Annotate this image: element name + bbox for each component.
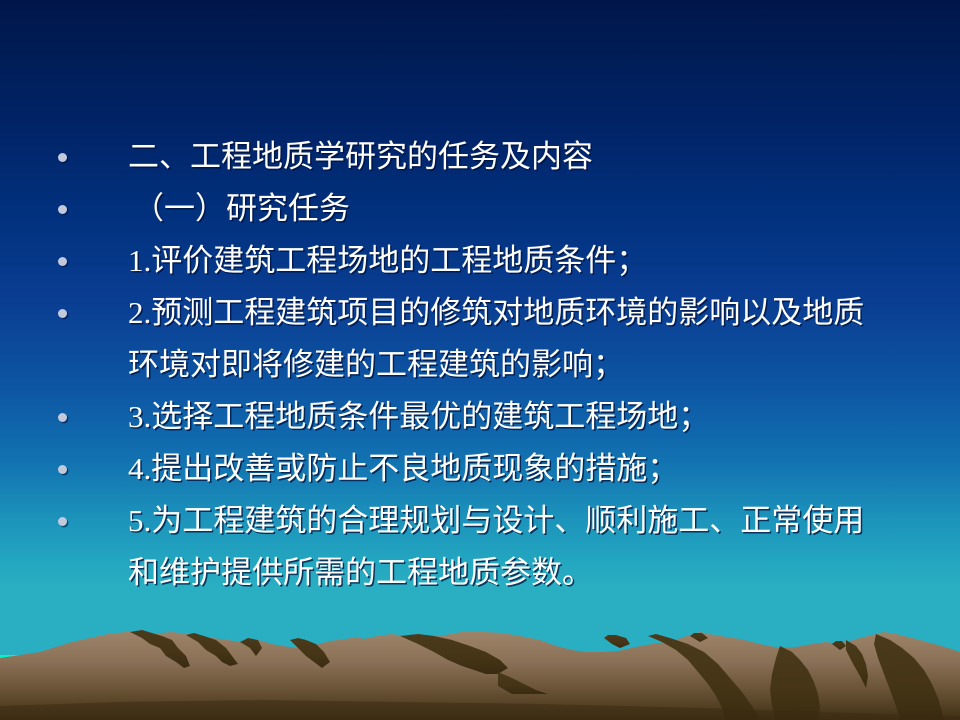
bullet-text-2: （一）研究任务	[0, 183, 390, 235]
presentation-slide: 二、工程地质学研究的任务及内容 （一）研究任务 1.评价建筑工程场地的工程地质条…	[0, 0, 960, 720]
bullet-text-3: 1.评价建筑工程场地的工程地质条件；	[0, 235, 687, 287]
bullet-text-7: 5.为工程建筑的合理规划与设计、顺利施工、正常使用和维护提供所需的工程地质参数。	[0, 495, 925, 599]
mountain-range-silhouette	[0, 590, 960, 720]
mountain-shadow-right-a	[604, 635, 630, 648]
bullet-text-1: 二、工程地质学研究的任务及内容	[0, 131, 633, 183]
bullet-text-4: 2.预测工程建筑项目的修筑对地质环境的影响以及地质环境对即将修建的工程建筑的影响…	[0, 287, 920, 391]
bullet-text-5: 3.选择工程地质条件最优的建筑工程场地；	[0, 391, 749, 443]
bullet-text-6: 4.提出改善或防止不良地质现象的措施；	[0, 443, 718, 495]
